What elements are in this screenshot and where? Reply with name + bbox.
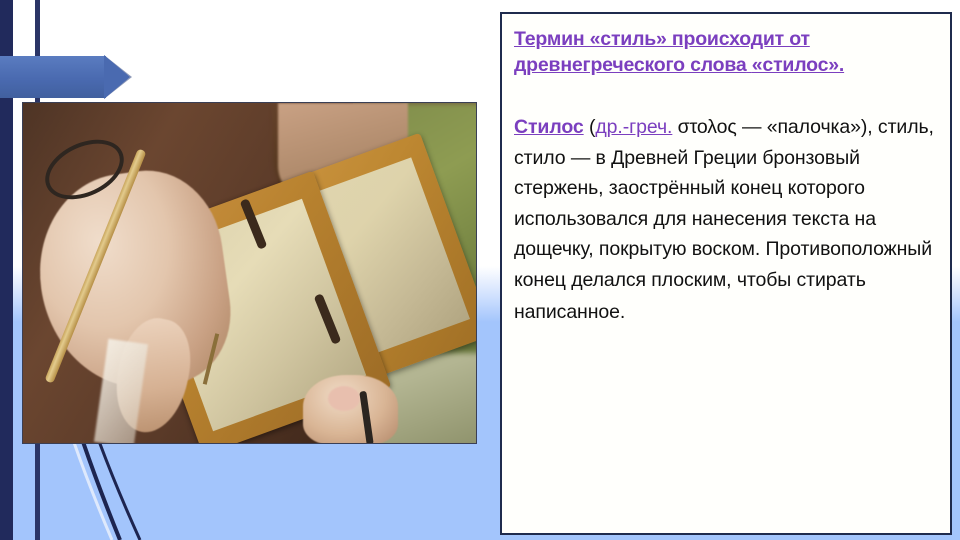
heading-line-2: древнегреческого слова: [514, 54, 747, 76]
heading-line-1: Термин «стиль» происходит от: [514, 28, 810, 50]
greek-original-word: στολος — «палочка»): [672, 116, 867, 138]
arrow-body-icon: [0, 56, 106, 98]
photo-thumbnail-detail: [328, 386, 360, 411]
blue-arrow-banner: [0, 56, 132, 98]
wax-tablet-photo: [22, 102, 477, 444]
heading-line-3: «стилос».: [752, 54, 844, 76]
slide-heading: Термин «стиль» происходит от древнегрече…: [514, 26, 940, 78]
body-definition-text: , стиль, стило — в Древней Греции бронзо…: [514, 116, 934, 291]
slide-body-text: Стилос (др.-греч. στολος — «палочка»), с…: [514, 112, 940, 328]
text-panel: Термин «стиль» происходит от древнегрече…: [500, 12, 952, 535]
source-link-ancient-greek[interactable]: др.-греч.: [595, 116, 672, 138]
arrow-head-icon: [104, 55, 130, 99]
slide-canvas: Термин «стиль» происходит от древнегрече…: [0, 0, 960, 540]
body-final-line: написанное.: [514, 297, 940, 328]
open-paren: (: [584, 116, 596, 138]
term-stylos: Стилос: [514, 116, 584, 138]
